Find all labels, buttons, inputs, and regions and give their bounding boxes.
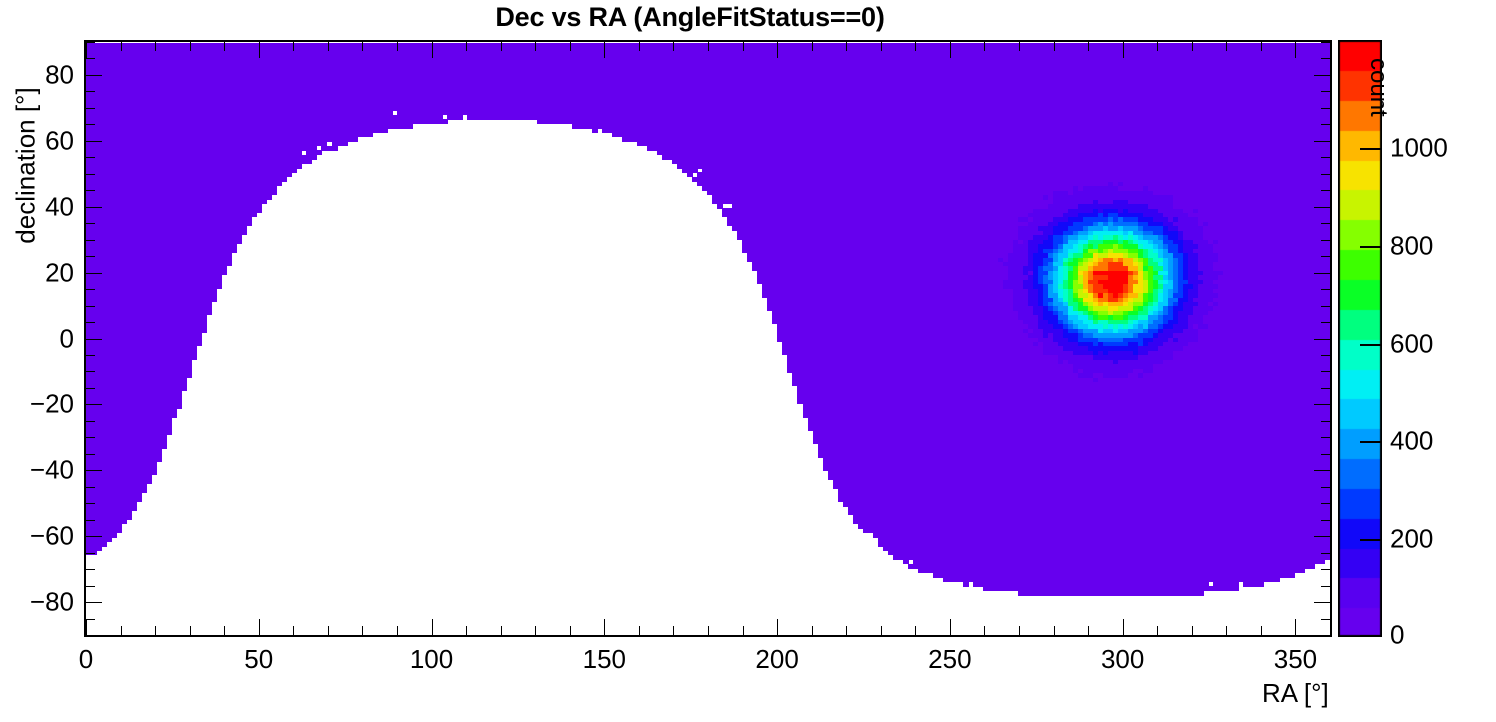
y-tick-label: 0	[0, 323, 74, 354]
x-tick-label: 350	[1274, 644, 1317, 675]
plot-frame[interactable]	[84, 40, 1332, 637]
x-tick-label: 300	[1101, 644, 1144, 675]
y-tick-label: −20	[0, 389, 74, 420]
colorbar-title: count	[1364, 58, 1392, 178]
x-axis-title: RA [°]	[1262, 678, 1329, 709]
y-tick-label: −60	[0, 521, 74, 552]
colorbar-tick-label: 0	[1390, 620, 1404, 651]
x-tick-label: 50	[244, 644, 273, 675]
heatmap-canvas[interactable]	[86, 42, 1330, 635]
x-tick-label: 0	[79, 644, 93, 675]
y-tick-label: −40	[0, 455, 74, 486]
y-axis-title: declination [°]	[11, 66, 42, 266]
x-tick-label: 100	[410, 644, 453, 675]
colorbar-tick-label: 600	[1390, 328, 1433, 359]
x-tick-label: 250	[928, 644, 971, 675]
x-tick-label: 150	[583, 644, 626, 675]
colorbar-tick-label: 1000	[1390, 133, 1448, 164]
colorbar-tick-label: 800	[1390, 230, 1433, 261]
colorbar-tick-label: 400	[1390, 426, 1433, 457]
chart-root: Dec vs RA (AngleFitStatus==0) 0501001502…	[0, 0, 1496, 722]
chart-title: Dec vs RA (AngleFitStatus==0)	[0, 2, 1380, 33]
x-tick-label: 200	[755, 644, 798, 675]
y-tick-label: −80	[0, 587, 74, 618]
colorbar-tick-label: 200	[1390, 524, 1433, 555]
